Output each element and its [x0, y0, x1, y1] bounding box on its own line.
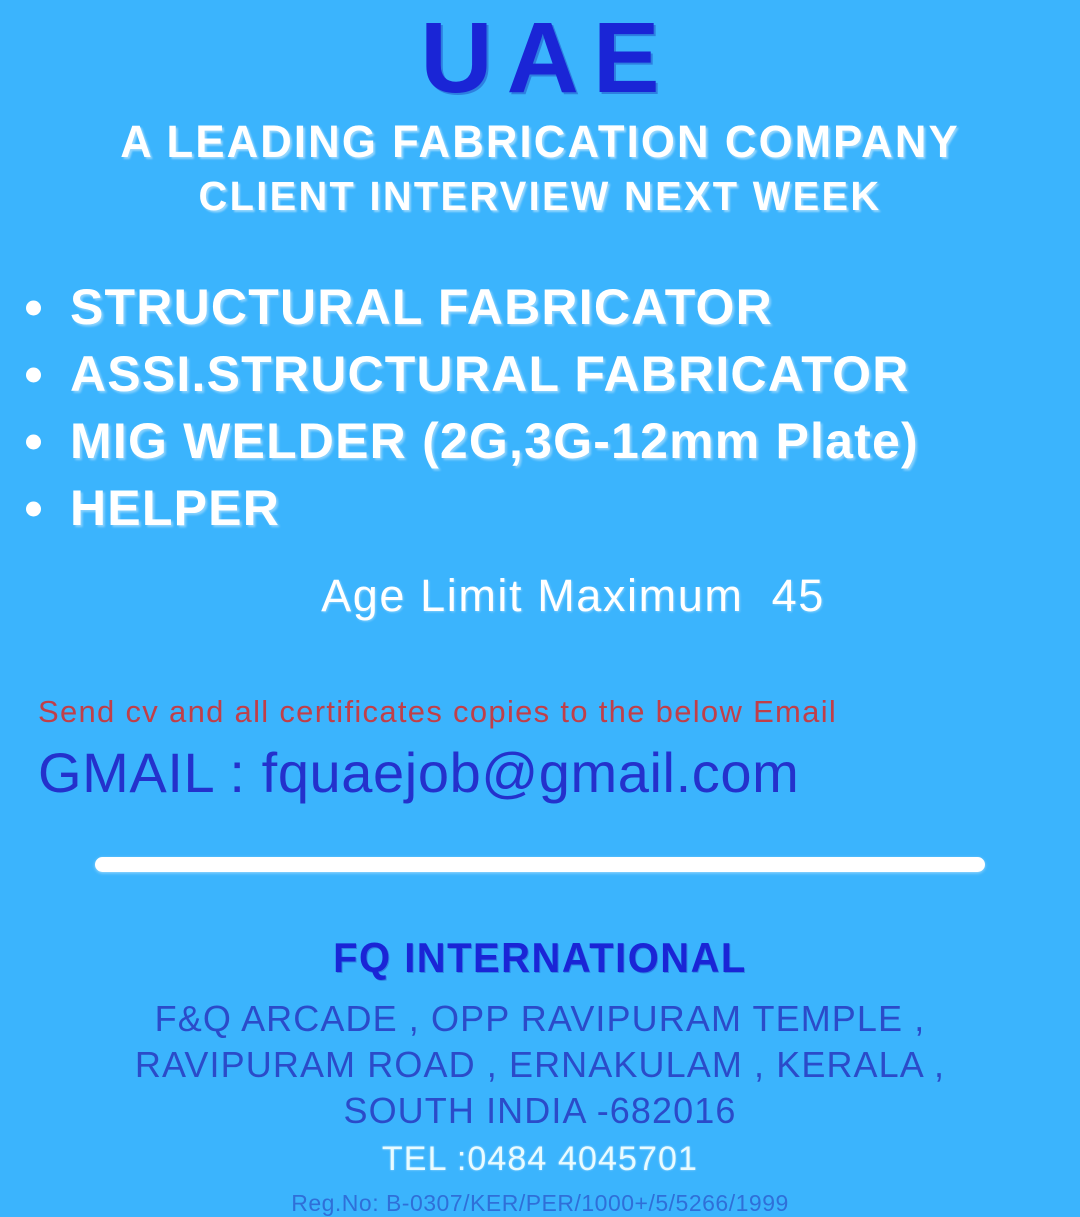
age-limit-text: Age Limit Maximum 45	[0, 570, 1080, 622]
address-line: SOUTH INDIA -682016	[0, 1088, 1080, 1134]
agency-address: F&Q ARCADE , OPP RAVIPURAM TEMPLE , RAVI…	[0, 996, 1080, 1133]
contact-email-block: Send cv and all certificates copies to t…	[0, 694, 1080, 805]
address-line: RAVIPURAM ROAD , ERNAKULAM , KERALA ,	[0, 1042, 1080, 1088]
job-advertisement-poster: UAE A LEADING FABRICATION COMPANY CLIENT…	[0, 0, 1080, 1190]
poster-header: UAE A LEADING FABRICATION COMPANY CLIENT…	[0, 0, 1080, 218]
list-item: STRUCTURAL FABRICATOR	[18, 274, 1080, 341]
telephone-number[interactable]: TEL :0484 4045701	[0, 1137, 1080, 1181]
job-positions-list: STRUCTURAL FABRICATOR ASSI.STRUCTURAL FA…	[0, 274, 1080, 542]
list-item: MIG WELDER (2G,3G-12mm Plate)	[18, 408, 1080, 475]
subtitle-company-description: A LEADING FABRICATION COMPANY	[16, 118, 1064, 165]
list-item: HELPER	[18, 475, 1080, 542]
agency-company-name: FQ INTERNATIONAL	[27, 934, 1053, 982]
address-line: F&Q ARCADE , OPP RAVIPURAM TEMPLE ,	[0, 996, 1080, 1042]
horizontal-divider	[95, 857, 985, 872]
list-item: ASSI.STRUCTURAL FABRICATOR	[18, 341, 1080, 408]
poster-footer: FQ INTERNATIONAL F&Q ARCADE , OPP RAVIPU…	[0, 934, 1080, 1216]
gmail-address-line[interactable]: GMAIL : fquaejob@gmail.com	[38, 740, 1080, 805]
page-title-uae: UAE	[0, 4, 1080, 112]
subtitle-interview-notice: CLIENT INTERVIEW NEXT WEEK	[16, 175, 1064, 218]
registration-number: Reg.No: B-0307/KER/PER/1000+/5/5266/1999	[0, 1190, 1080, 1217]
divider-wrapper	[0, 857, 1080, 872]
send-cv-instruction: Send cv and all certificates copies to t…	[38, 694, 1080, 730]
